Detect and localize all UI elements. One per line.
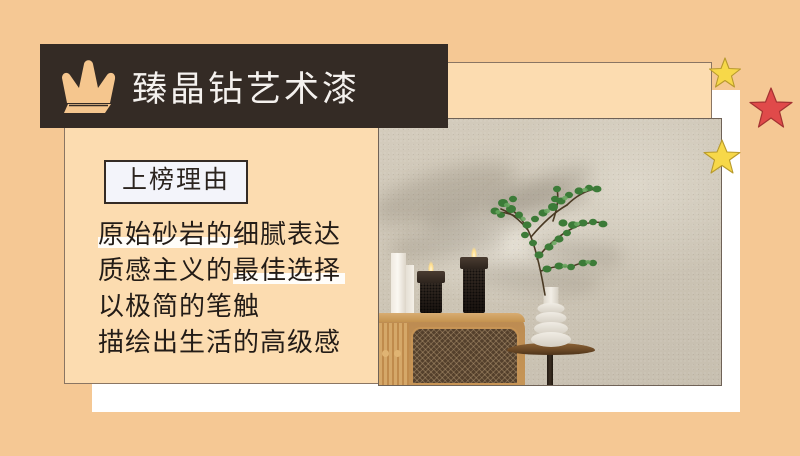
cabinet-top <box>378 313 525 322</box>
poster-stage: 臻晶钻艺术漆 上榜理由 原始砂岩的细腻表达 质感主义的最佳选择 以极简的笔触 描… <box>0 0 800 456</box>
black-candle-small <box>420 281 442 313</box>
star-yellow-top-icon <box>708 56 742 90</box>
copy-line: 原始砂岩的细腻表达 <box>98 218 388 251</box>
candle-cap <box>417 271 445 283</box>
pedestal-stem <box>547 351 553 385</box>
star-red-icon <box>748 86 794 130</box>
cabinet-knob <box>394 350 401 357</box>
reason-label: 上榜理由 <box>104 160 248 204</box>
copy-line-text: 以极简的笔触 <box>98 291 260 321</box>
page-title: 臻晶钻艺术漆 <box>132 44 360 128</box>
star-yellow-photo-icon <box>702 138 742 176</box>
candle-body <box>420 281 442 313</box>
stacked-stone-vase <box>530 289 572 347</box>
crown-icon <box>58 58 120 114</box>
copy-line: 以极简的笔触 <box>98 290 388 323</box>
vase-disc <box>531 332 571 347</box>
interior-photo <box>378 118 722 386</box>
white-pillar-candle-small <box>406 265 414 313</box>
copy-line-text: 质感主义的最佳选择 <box>98 255 341 285</box>
rattan-cabinet <box>378 313 525 385</box>
cabinet-rattan-panel <box>411 327 519 385</box>
copy-line: 质感主义的最佳选择 <box>98 254 388 287</box>
copy-line: 描绘出生活的高级感 <box>98 326 388 359</box>
copy-line-text: 原始砂岩的细腻表达 <box>98 219 341 249</box>
green-branch-plant <box>467 167 627 297</box>
white-pillar-candle <box>391 253 406 313</box>
copy-block: 原始砂岩的细腻表达 质感主义的最佳选择 以极简的笔触 描绘出生活的高级感 <box>98 218 388 362</box>
title-bar: 臻晶钻艺术漆 <box>40 44 448 128</box>
copy-line-text: 描绘出生活的高级感 <box>98 327 341 357</box>
